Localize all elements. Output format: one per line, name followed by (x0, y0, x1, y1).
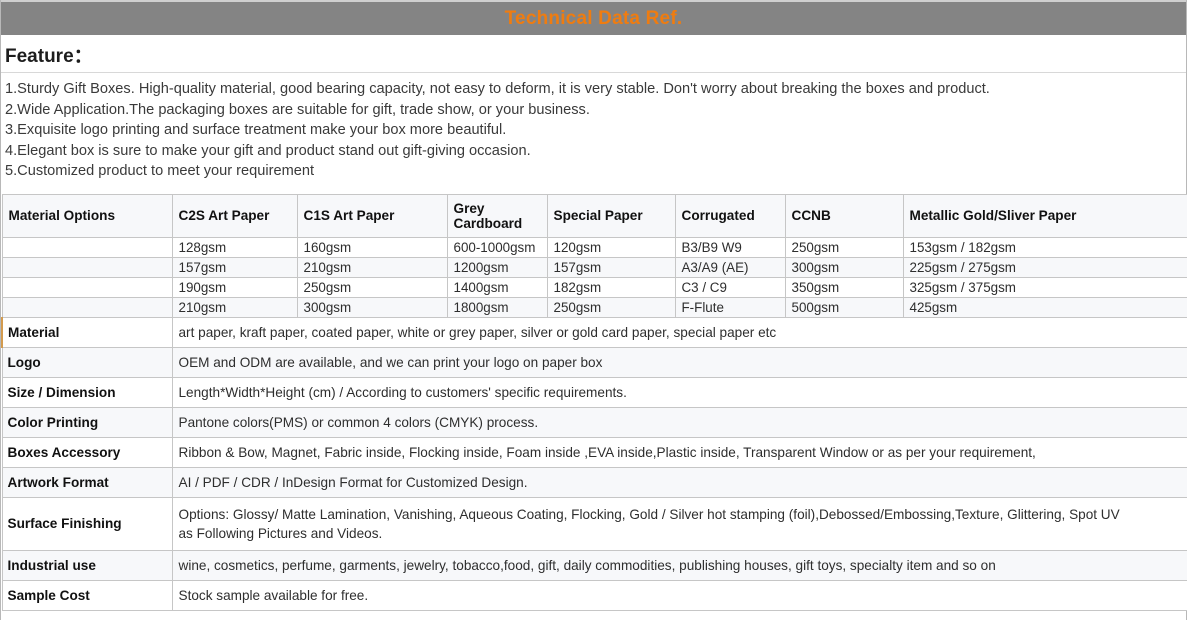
spec-value: Ribbon & Bow, Magnet, Fabric inside, Flo… (172, 437, 1187, 467)
spec-row-sample-cost: Sample Cost Stock sample available for f… (2, 580, 1187, 610)
material-header-cell: CCNB (785, 194, 903, 237)
feature-line: 5.Customized product to meet your requir… (5, 161, 1182, 182)
spec-row-logo: Logo OEM and ODM are available, and we c… (2, 347, 1187, 377)
material-options-header-row: Material Options C2S Art Paper C1S Art P… (2, 194, 1187, 237)
material-cell: 157gsm (547, 257, 675, 277)
spec-label: Color Printing (2, 407, 172, 437)
spec-value: Pantone colors(PMS) or common 4 colors (… (172, 407, 1187, 437)
spec-row-artwork-format: Artwork Format AI / PDF / CDR / InDesign… (2, 467, 1187, 497)
material-cell: 1200gsm (447, 257, 547, 277)
material-cell: 120gsm (547, 237, 675, 257)
material-cell (2, 297, 172, 317)
spec-row-size-dimension: Size / Dimension Length*Width*Height (cm… (2, 377, 1187, 407)
material-cell: 182gsm (547, 277, 675, 297)
material-header-cell: C2S Art Paper (172, 194, 297, 237)
table-row: 190gsm 250gsm 1400gsm 182gsm C3 / C9 350… (2, 277, 1187, 297)
spec-label: Artwork Format (2, 467, 172, 497)
feature-line: 2.Wide Application.The packaging boxes a… (5, 100, 1182, 121)
table-row: 210gsm 300gsm 1800gsm 250gsm F-Flute 500… (2, 297, 1187, 317)
spec-label: Sample Cost (2, 580, 172, 610)
material-cell: 325gsm / 375gsm (903, 277, 1187, 297)
material-cell: B3/B9 W9 (675, 237, 785, 257)
material-cell: 210gsm (297, 257, 447, 277)
spec-label: Material (2, 317, 172, 347)
feature-line: 4.Elegant box is sure to make your gift … (5, 141, 1182, 162)
material-header-cell: Corrugated (675, 194, 785, 237)
material-cell: F-Flute (675, 297, 785, 317)
spec-value: AI / PDF / CDR / InDesign Format for Cus… (172, 467, 1187, 497)
material-cell: 1400gsm (447, 277, 547, 297)
material-header-cell: Material Options (2, 194, 172, 237)
feature-heading-row: Feature： (1, 35, 1186, 73)
material-cell: A3/A9 (AE) (675, 257, 785, 277)
spec-label: Industrial use (2, 550, 172, 580)
spec-value: art paper, kraft paper, coated paper, wh… (172, 317, 1187, 347)
specification-table: Material Options C2S Art Paper C1S Art P… (1, 194, 1187, 611)
spec-value: wine, cosmetics, perfume, garments, jewe… (172, 550, 1187, 580)
title-bar: Technical Data Ref. (1, 0, 1186, 35)
material-header-cell: C1S Art Paper (297, 194, 447, 237)
material-cell: 500gsm (785, 297, 903, 317)
spec-value-line: as Following Pictures and Videos. (179, 524, 1181, 543)
material-cell: 600-1000gsm (447, 237, 547, 257)
spec-label: Boxes Accessory (2, 437, 172, 467)
feature-line: 1.Sturdy Gift Boxes. High-quality materi… (5, 79, 1182, 100)
material-header-cell: Metallic Gold/Sliver Paper (903, 194, 1187, 237)
material-cell: 250gsm (547, 297, 675, 317)
material-header-cell: Special Paper (547, 194, 675, 237)
spec-value: OEM and ODM are available, and we can pr… (172, 347, 1187, 377)
material-cell: 190gsm (172, 277, 297, 297)
spec-row-color-printing: Color Printing Pantone colors(PMS) or co… (2, 407, 1187, 437)
material-header-cell: Grey Cardboard (447, 194, 547, 237)
material-cell: 157gsm (172, 257, 297, 277)
material-cell (2, 277, 172, 297)
feature-heading: Feature： (5, 46, 93, 67)
table-row: 128gsm 160gsm 600-1000gsm 120gsm B3/B9 W… (2, 237, 1187, 257)
material-cell: 225gsm / 275gsm (903, 257, 1187, 277)
feature-line: 3.Exquisite logo printing and surface tr… (5, 120, 1182, 141)
material-cell: 210gsm (172, 297, 297, 317)
feature-list: 1.Sturdy Gift Boxes. High-quality materi… (1, 73, 1186, 186)
spec-row-material: Material art paper, kraft paper, coated … (2, 317, 1187, 347)
material-cell: 300gsm (297, 297, 447, 317)
spec-value-line: Options: Glossy/ Matte Lamination, Vanis… (179, 505, 1181, 524)
material-cell: 153gsm / 182gsm (903, 237, 1187, 257)
spec-label: Size / Dimension (2, 377, 172, 407)
material-cell: 350gsm (785, 277, 903, 297)
material-cell: 128gsm (172, 237, 297, 257)
spec-value: Options: Glossy/ Matte Lamination, Vanis… (172, 497, 1187, 550)
spec-value: Length*Width*Height (cm) / According to … (172, 377, 1187, 407)
spec-row-surface-finishing: Surface Finishing Options: Glossy/ Matte… (2, 497, 1187, 550)
spec-row-industrial-use: Industrial use wine, cosmetics, perfume,… (2, 550, 1187, 580)
technical-data-sheet: Technical Data Ref. Feature： 1.Sturdy Gi… (0, 0, 1187, 620)
material-cell: 250gsm (297, 277, 447, 297)
material-cell: 160gsm (297, 237, 447, 257)
material-cell: C3 / C9 (675, 277, 785, 297)
material-cell: 425gsm (903, 297, 1187, 317)
material-cell (2, 257, 172, 277)
table-row: 157gsm 210gsm 1200gsm 157gsm A3/A9 (AE) … (2, 257, 1187, 277)
material-cell: 1800gsm (447, 297, 547, 317)
material-cell: 250gsm (785, 237, 903, 257)
page-title: Technical Data Ref. (505, 8, 683, 30)
material-cell (2, 237, 172, 257)
spec-label: Surface Finishing (2, 497, 172, 550)
spec-label: Logo (2, 347, 172, 377)
spec-row-boxes-accessory: Boxes Accessory Ribbon & Bow, Magnet, Fa… (2, 437, 1187, 467)
material-cell: 300gsm (785, 257, 903, 277)
spec-value: Stock sample available for free. (172, 580, 1187, 610)
